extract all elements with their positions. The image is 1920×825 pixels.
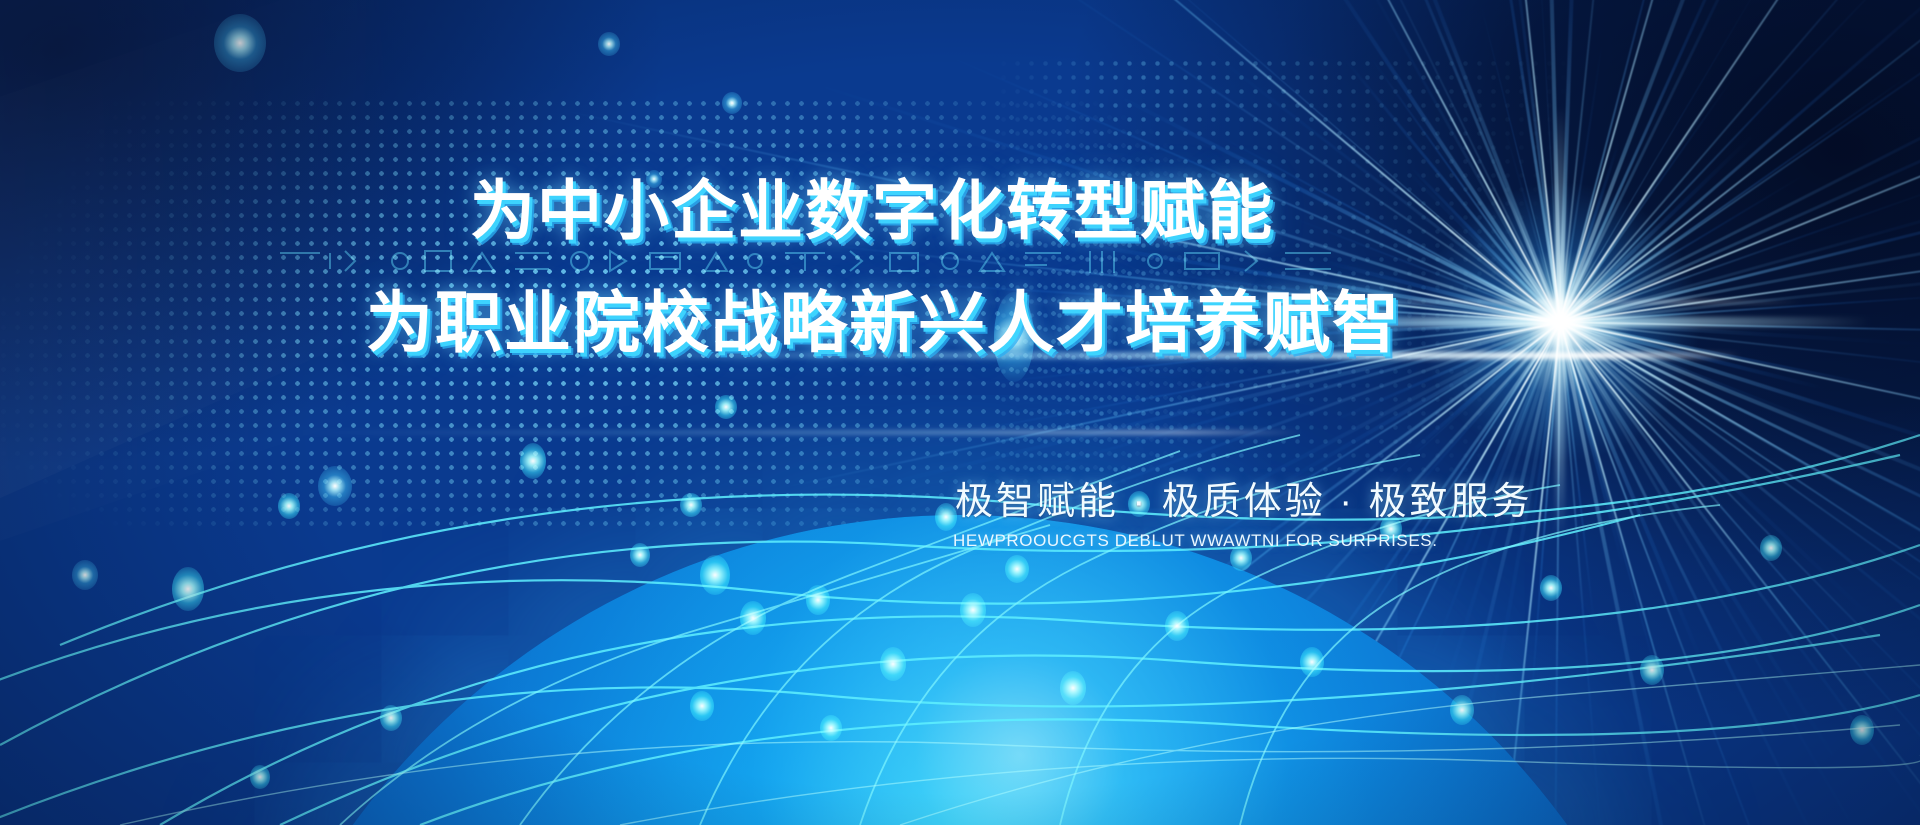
network-node [1128, 491, 1150, 517]
network-node [1005, 555, 1029, 583]
network-node [935, 503, 957, 531]
network-node [1850, 715, 1874, 745]
network-node [700, 555, 730, 595]
network-node [820, 715, 842, 741]
light-particle [214, 14, 266, 72]
network-node [630, 543, 650, 567]
network-node [1450, 695, 1474, 725]
network-node [1230, 545, 1252, 571]
network-node [250, 765, 270, 789]
light-streak-tertiary [900, 300, 1800, 304]
network-node [172, 567, 204, 611]
network-node [278, 493, 300, 519]
light-streak-main [560, 352, 1740, 359]
light-particle [72, 560, 98, 590]
globe-network-scene [0, 395, 1920, 825]
network-node [1060, 671, 1086, 705]
network-node [1300, 647, 1324, 677]
light-particle [318, 466, 352, 506]
light-particle [646, 170, 662, 188]
network-node [1640, 655, 1664, 685]
network-node [806, 585, 830, 615]
network-node [880, 647, 906, 681]
light-particle [598, 32, 620, 56]
network-node [1380, 515, 1402, 543]
network-node [1760, 535, 1782, 561]
network-node [680, 493, 702, 517]
network-node [715, 395, 737, 419]
light-particle [722, 92, 742, 114]
network-node [740, 601, 766, 635]
network-node [1540, 575, 1562, 601]
network-node [520, 443, 546, 479]
network-node [960, 593, 986, 627]
network-node [690, 691, 714, 721]
network-node [380, 705, 402, 731]
light-particle [994, 292, 1034, 382]
hero-banner: 为中小企业数字化转型赋能 为职业院校战略新兴人才培养赋智 极智赋能 · 极质体验… [0, 0, 1920, 825]
network-node [1165, 611, 1189, 641]
